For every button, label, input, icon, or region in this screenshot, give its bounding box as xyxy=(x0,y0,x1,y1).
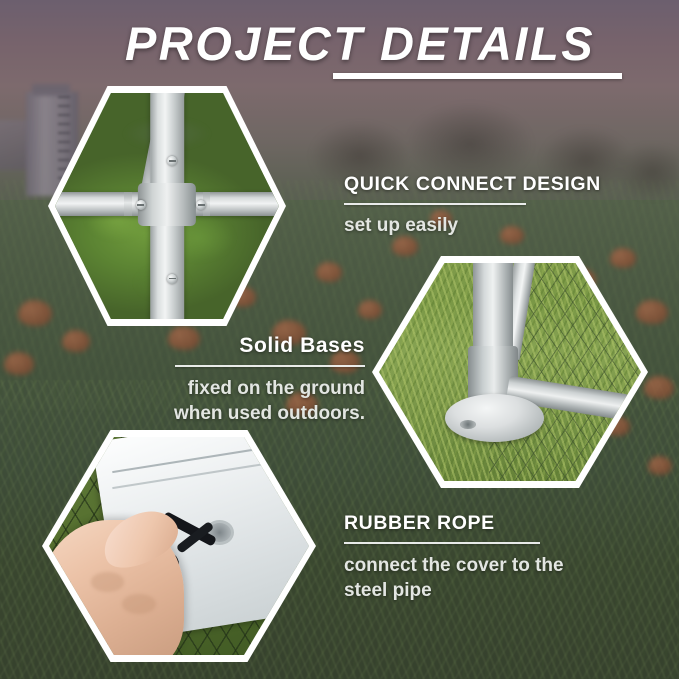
feature-photo-inner xyxy=(49,437,309,655)
caption-body: fixed on the ground when used outdoors. xyxy=(105,376,365,426)
caption-body-line: steel pipe xyxy=(344,578,644,603)
caption-rule xyxy=(344,203,526,205)
feature-photo-rubber-rope xyxy=(42,430,316,662)
caption-rule xyxy=(175,365,365,367)
pipe-collar-icon xyxy=(124,192,131,216)
page-title: PROJECT DETAILS xyxy=(90,17,630,71)
caption-rule xyxy=(344,542,540,544)
caption-heading: RUBBER ROPE xyxy=(344,512,644,535)
caption-body: set up easily xyxy=(344,213,634,238)
caption-solid-bases: Solid Bases fixed on the ground when use… xyxy=(105,334,365,426)
title-underline xyxy=(333,73,622,79)
screw-icon xyxy=(167,274,177,284)
caption-heading: Solid Bases xyxy=(105,334,365,358)
screw-icon xyxy=(136,200,146,210)
infographic-page: PROJECT DETAILS xyxy=(0,0,679,679)
knuckle-shade xyxy=(91,572,125,592)
pipe-joint-icon xyxy=(138,183,196,226)
feature-photo-inner xyxy=(55,93,279,319)
photo-base-plate xyxy=(379,263,641,481)
base-plate-icon xyxy=(445,394,545,442)
anchor-hole-icon xyxy=(460,420,476,429)
knuckle-shade xyxy=(122,594,156,614)
caption-body-line: connect the cover to the xyxy=(344,553,644,578)
caption-quick-connect-design: QUICK CONNECT DESIGN set up easily xyxy=(344,173,634,238)
feature-photo-inner xyxy=(379,263,641,481)
caption-body: connect the cover to the steel pipe xyxy=(344,553,644,603)
photo-rubber-rope xyxy=(49,437,309,655)
infographic-content: PROJECT DETAILS xyxy=(0,0,679,679)
caption-rubber-rope: RUBBER ROPE connect the cover to the ste… xyxy=(344,512,644,603)
feature-photo-solid-bases xyxy=(372,256,648,488)
caption-heading: QUICK CONNECT DESIGN xyxy=(344,173,634,196)
caption-body-line: when used outdoors. xyxy=(105,401,365,426)
caption-body-line: fixed on the ground xyxy=(105,376,365,401)
photo-pipe-connector xyxy=(55,93,279,319)
caption-body-line: set up easily xyxy=(344,215,458,236)
feature-photo-quick-connect-design xyxy=(48,86,286,326)
